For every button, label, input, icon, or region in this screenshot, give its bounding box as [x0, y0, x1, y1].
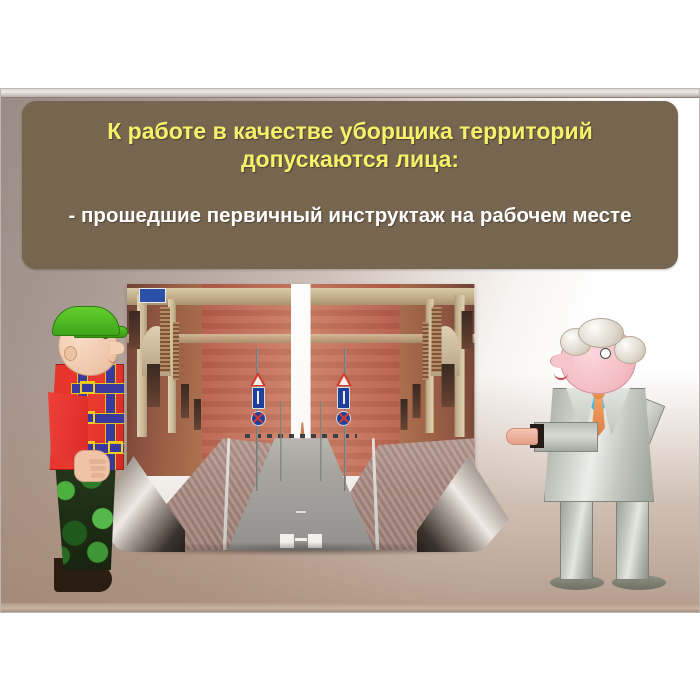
window	[442, 364, 455, 406]
worker-character	[32, 300, 136, 592]
jacket-buckle	[108, 441, 123, 454]
lamp-post	[280, 401, 282, 481]
worker-mouth	[108, 358, 118, 363]
traffic-sign-group-right	[336, 372, 352, 426]
instructor-hair	[578, 318, 624, 348]
photo-curl-shadow	[135, 542, 467, 556]
worker-ear	[64, 346, 77, 361]
worker-cap	[52, 306, 120, 336]
window	[181, 384, 189, 418]
text-panel: К работе в качестве уборщика территорий …	[22, 101, 678, 269]
shutter	[423, 322, 430, 379]
street-plate-sign	[139, 288, 165, 303]
shutter	[432, 307, 442, 372]
instructor-leg	[560, 500, 593, 580]
shutter	[160, 307, 170, 372]
jacket-buckle	[80, 381, 95, 394]
slide-top-rail	[0, 88, 700, 98]
lamp-post	[320, 401, 322, 481]
stone-band	[311, 288, 475, 305]
lane-marking	[295, 538, 307, 541]
window	[462, 311, 473, 349]
window	[401, 399, 408, 430]
worker-hand	[74, 450, 110, 482]
finger	[89, 459, 106, 464]
warning-triangle-icon	[336, 372, 352, 386]
window	[194, 399, 201, 430]
street-photo-image	[127, 284, 475, 550]
window	[147, 364, 160, 406]
panel-subtitle: - прошедшие первичный инструктаж на рабо…	[44, 203, 656, 228]
one-way-arrow-icon	[337, 387, 350, 409]
presentation-slide: К работе в качестве уборщика территорий …	[0, 88, 700, 613]
shutter	[173, 322, 180, 379]
warning-triangle-icon	[250, 372, 266, 386]
instructor-character	[504, 310, 680, 590]
lane-marking	[296, 511, 306, 513]
instructor-leg	[616, 500, 649, 580]
no-stopping-icon	[336, 411, 351, 426]
no-stopping-icon	[251, 411, 266, 426]
finger	[91, 473, 105, 478]
distant-cars	[245, 434, 356, 438]
street-photo-frame	[127, 284, 475, 550]
roadway	[127, 438, 475, 550]
finger	[90, 466, 106, 471]
window	[413, 384, 421, 418]
instructor-eye	[600, 348, 611, 359]
worker-nose	[110, 342, 125, 354]
instructor-pointing-hand	[506, 428, 538, 445]
instructor-nose	[550, 354, 573, 368]
panel-title: К работе в качестве уборщика территорий …	[40, 117, 660, 173]
one-way-arrow-icon	[252, 387, 265, 409]
slide-bottom-rail	[0, 603, 700, 613]
traffic-sign-group-left	[250, 372, 266, 426]
